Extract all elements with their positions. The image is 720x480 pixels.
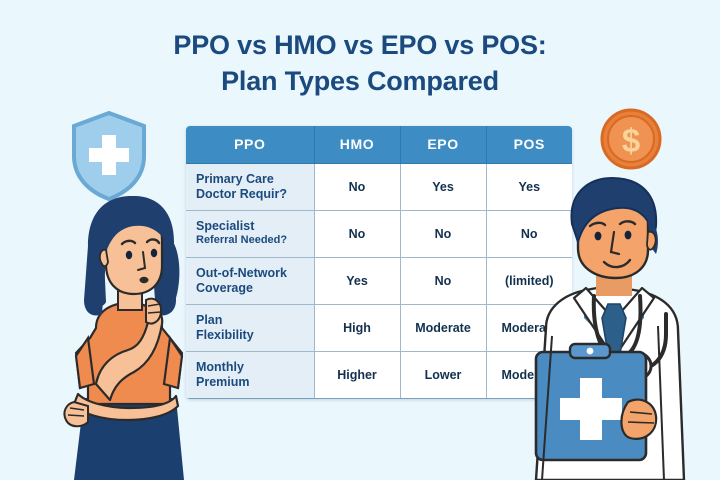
- table-header-row: PPO HMO EPO POS: [186, 126, 572, 163]
- doctor-illustration: [508, 176, 720, 480]
- column-header-epo: EPO: [400, 126, 486, 163]
- cell-hmo: No: [314, 163, 400, 210]
- cell-epo: Lower: [400, 351, 486, 398]
- cell-epo: No: [400, 210, 486, 257]
- page-title-line1: PPO vs HMO vs EPO vs POS:: [173, 30, 546, 60]
- cell-hmo: No: [314, 210, 400, 257]
- coin-dollar-glyph: $: [622, 122, 640, 159]
- column-header-hmo: HMO: [314, 126, 400, 163]
- column-header-pos: POS: [486, 126, 572, 163]
- row-label-line1: Primary Care: [196, 172, 314, 187]
- cell-epo: Moderate: [400, 304, 486, 351]
- thinking-woman-illustration: [44, 188, 214, 480]
- page-title-line2: Plan Types Compared: [0, 64, 720, 100]
- column-header-ppo: PPO: [186, 126, 314, 163]
- cell-hmo: High: [314, 304, 400, 351]
- infographic-canvas: PPO vs HMO vs EPO vs POS: Plan Types Com…: [0, 0, 720, 480]
- cell-epo: No: [400, 257, 486, 304]
- page-title: PPO vs HMO vs EPO vs POS: Plan Types Com…: [0, 28, 720, 99]
- cell-epo: Yes: [400, 163, 486, 210]
- cell-hmo: Higher: [314, 351, 400, 398]
- dollar-coin-icon: $: [600, 108, 662, 170]
- cell-hmo: Yes: [314, 257, 400, 304]
